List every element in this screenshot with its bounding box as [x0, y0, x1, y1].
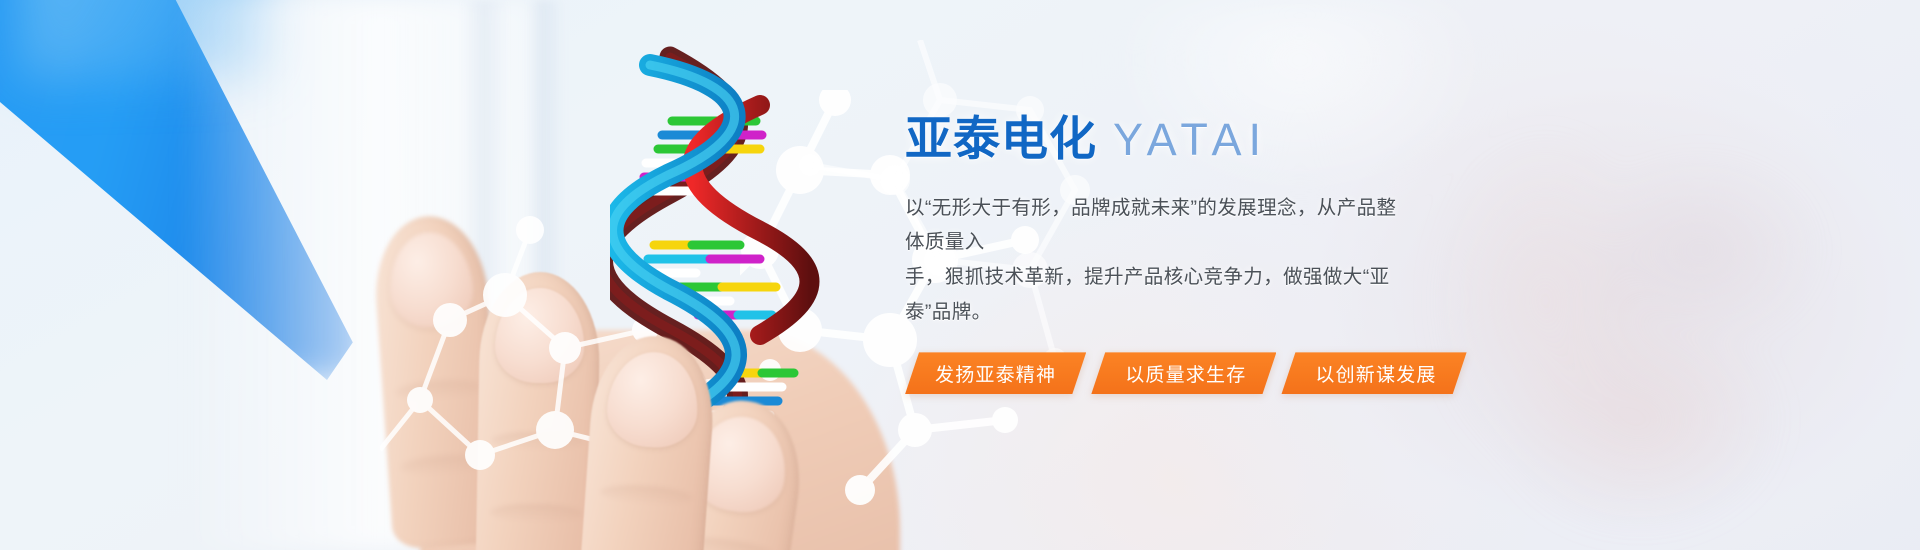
slogan-tag-3[interactable]: 以创新谋发展 [1281, 352, 1466, 394]
fingernail [605, 349, 702, 450]
slogan-tag-label: 以创新谋发展 [1315, 360, 1436, 387]
slogan-tag-label: 以质量求生存 [1125, 360, 1246, 387]
headline-english: YATAI [1113, 114, 1268, 165]
knuckle-crease [492, 431, 583, 451]
fingernail [386, 229, 475, 330]
fingernail [494, 287, 584, 384]
banner-description: 以“无形大于有形，品牌成就未来”的发展理念，从产品整体质量入 手，狠抓技术革新，… [905, 191, 1415, 330]
knuckle-crease [401, 453, 487, 477]
page-title: 亚泰电化YATAI [905, 112, 1525, 167]
banner-content: 亚泰电化YATAI 以“无形大于有形，品牌成就未来”的发展理念，从产品整体质量入… [905, 112, 1525, 394]
headline-chinese: 亚泰电化 [905, 112, 1097, 165]
knuckle-crease [396, 378, 482, 402]
slogan-tag-list: 发扬亚泰精神 以质量求生存 以创新谋发展 [905, 352, 1525, 394]
hand-finger-2 [475, 271, 601, 550]
knuckle-crease [491, 503, 582, 523]
slogan-tag-2[interactable]: 以质量求生存 [1091, 352, 1276, 394]
description-line-2: 手，狠抓技术革新，提升产品核心竞争力，做强做大“亚泰”品牌。 [905, 260, 1415, 329]
knuckle-crease [599, 483, 693, 507]
slogan-tag-1[interactable]: 发扬亚泰精神 [905, 352, 1086, 394]
hero-banner: 亚泰电化YATAI 以“无形大于有形，品牌成就未来”的发展理念，从产品整体质量入… [0, 0, 1920, 550]
description-line-1: 以“无形大于有形，品牌成就未来”的发展理念，从产品整体质量入 [905, 191, 1415, 260]
slogan-tag-label: 发扬亚泰精神 [935, 360, 1056, 387]
